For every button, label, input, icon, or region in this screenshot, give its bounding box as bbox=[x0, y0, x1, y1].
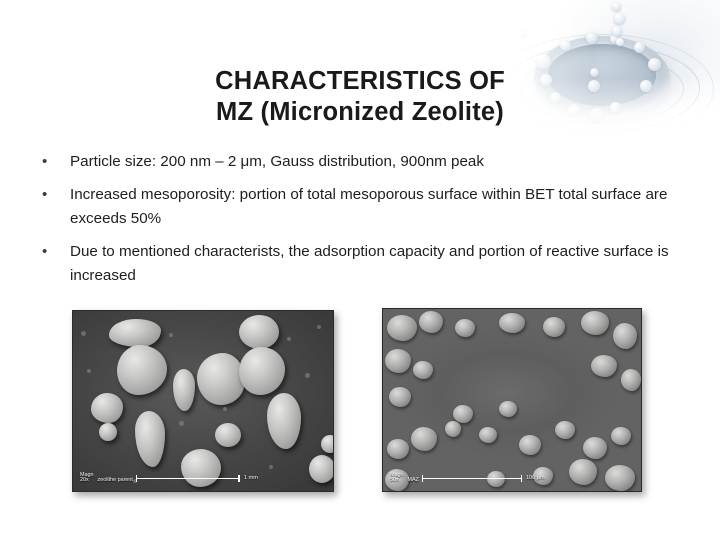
scale-bar-overlay: Magn 20x zeolithe parent 1 mm bbox=[80, 473, 258, 484]
scale-ruler: 100 μm bbox=[422, 475, 545, 482]
crown-bead bbox=[586, 32, 598, 44]
title-line-2: MZ (Micronized Zeolite) bbox=[0, 97, 720, 128]
sem-agglomerate bbox=[591, 355, 617, 377]
sem-speck bbox=[287, 337, 291, 341]
scale-value: 100 μm bbox=[526, 475, 545, 481]
sem-particle bbox=[321, 435, 334, 453]
title-seg-mz: MZ ( bbox=[216, 98, 269, 126]
bullet-marker-icon: • bbox=[38, 183, 70, 207]
title-seg-z: Z bbox=[412, 98, 428, 126]
magn-value: 20x bbox=[80, 478, 94, 484]
slide-canvas: CHARACTERISTICS OF MZ (Micronized Zeolit… bbox=[0, 0, 720, 540]
sem-agglomerate bbox=[413, 361, 433, 379]
sem-agglomerate bbox=[387, 439, 409, 459]
sem-speck bbox=[179, 421, 184, 426]
sem-background-field bbox=[383, 309, 641, 491]
droplet bbox=[612, 26, 622, 36]
sem-agglomerate bbox=[453, 405, 473, 423]
sem-speck bbox=[223, 407, 227, 411]
bullet-marker-icon: • bbox=[38, 240, 70, 264]
title-seg-eolite: eolite) bbox=[427, 98, 504, 126]
bullet-text: Increased mesoporosity: portion of total… bbox=[70, 183, 678, 231]
sem-agglomerate bbox=[387, 315, 417, 341]
sem-canvas bbox=[383, 309, 641, 491]
sem-agglomerate bbox=[583, 437, 607, 459]
sem-particle bbox=[109, 319, 161, 347]
title-line-1: CHARACTERISTICS OF bbox=[0, 66, 720, 97]
page-title: CHARACTERISTICS OF MZ (Micronized Zeolit… bbox=[0, 66, 720, 128]
sem-agglomerate bbox=[519, 435, 541, 455]
scale-value: 1 mm bbox=[244, 475, 258, 481]
sem-speck bbox=[317, 325, 321, 329]
scale-ruler-line bbox=[136, 478, 240, 479]
sem-particle bbox=[99, 423, 117, 441]
sem-agglomerate bbox=[389, 387, 411, 407]
specimen-label: MAZ bbox=[408, 477, 419, 484]
sem-agglomerate bbox=[611, 427, 631, 445]
sem-agglomerate bbox=[445, 421, 461, 437]
specimen-label: zeolithe parent bbox=[98, 477, 133, 484]
magn-value: 50x bbox=[390, 478, 404, 484]
sem-agglomerate bbox=[499, 401, 517, 417]
sem-agglomerate bbox=[411, 427, 437, 451]
bullet-marker-icon: • bbox=[38, 150, 70, 174]
sem-agglomerate bbox=[543, 317, 565, 337]
droplet bbox=[614, 13, 625, 24]
crown-bead bbox=[610, 34, 620, 44]
sem-particle bbox=[91, 393, 123, 423]
bullet-list: • Particle size: 200 nm – 2 μm, Gauss di… bbox=[38, 150, 678, 297]
sem-speck bbox=[87, 369, 91, 373]
droplet bbox=[616, 38, 624, 46]
sem-agglomerate bbox=[385, 349, 411, 373]
sem-particle bbox=[215, 423, 241, 447]
sem-speck bbox=[269, 465, 273, 469]
sem-agglomerate bbox=[555, 421, 575, 439]
scale-ruler-line bbox=[422, 478, 522, 479]
bullet-text: Particle size: 200 nm – 2 μm, Gauss dist… bbox=[70, 150, 678, 174]
scale-bar-overlay: Magn 50x MAZ 100 μm bbox=[390, 473, 545, 484]
sem-agglomerate bbox=[499, 313, 525, 333]
sem-agglomerate bbox=[479, 427, 497, 443]
sem-agglomerate bbox=[605, 465, 635, 491]
magnification-label: Magn 50x bbox=[390, 473, 404, 484]
droplet bbox=[612, 2, 621, 11]
list-item: • Increased mesoporosity: portion of tot… bbox=[38, 183, 678, 231]
sem-agglomerate bbox=[569, 459, 597, 485]
sem-canvas bbox=[73, 311, 333, 491]
sem-agglomerate bbox=[613, 323, 637, 349]
sem-speck bbox=[81, 331, 86, 336]
title-seg-icronized: icronized bbox=[291, 98, 412, 126]
sem-agglomerate bbox=[621, 369, 641, 391]
sem-particle bbox=[309, 455, 334, 483]
sem-agglomerate bbox=[455, 319, 475, 337]
sem-particle bbox=[197, 353, 245, 405]
sem-image-maz-micronized: Magn 50x MAZ 100 μm bbox=[382, 308, 642, 492]
sem-agglomerate bbox=[581, 311, 609, 335]
crown-bead bbox=[634, 42, 645, 53]
sem-image-zeolithe-parent: Magn 20x zeolithe parent 1 mm bbox=[72, 310, 334, 492]
droplet bbox=[520, 30, 527, 37]
title-seg-m: M bbox=[269, 98, 290, 126]
sem-agglomerate bbox=[419, 311, 443, 333]
magnification-label: Magn 20x bbox=[80, 473, 94, 484]
sem-speck bbox=[305, 373, 310, 378]
bullet-text: Due to mentioned characterists, the adso… bbox=[70, 240, 678, 288]
list-item: • Particle size: 200 nm – 2 μm, Gauss di… bbox=[38, 150, 678, 174]
scale-ruler: 1 mm bbox=[136, 475, 258, 482]
list-item: • Due to mentioned characterists, the ad… bbox=[38, 240, 678, 288]
crown-bead bbox=[560, 40, 571, 51]
sem-speck bbox=[169, 333, 173, 337]
sem-particle bbox=[239, 315, 279, 349]
